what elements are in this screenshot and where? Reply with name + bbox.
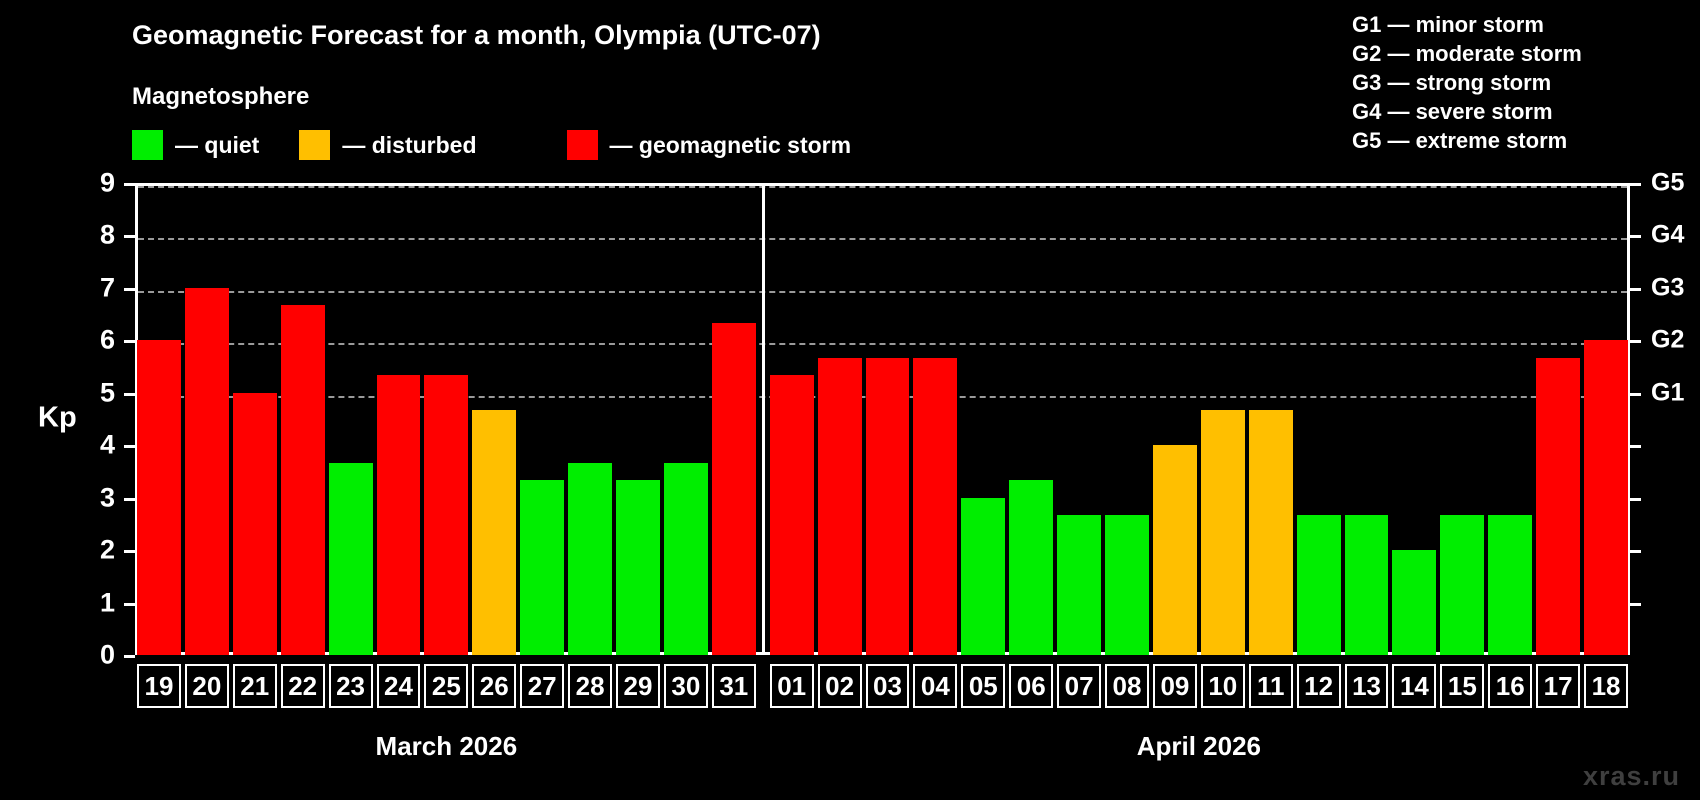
date-label-05[interactable]: 05: [961, 664, 1005, 708]
date-label-27[interactable]: 27: [520, 664, 564, 708]
date-label-28[interactable]: 28: [568, 664, 612, 708]
date-label-10[interactable]: 10: [1201, 664, 1245, 708]
date-label-20[interactable]: 20: [185, 664, 229, 708]
date-label-07[interactable]: 07: [1057, 664, 1101, 708]
date-label-29[interactable]: 29: [616, 664, 660, 708]
date-label-04[interactable]: 04: [913, 664, 957, 708]
date-label-25[interactable]: 25: [424, 664, 468, 708]
date-label-15[interactable]: 15: [1440, 664, 1484, 708]
date-label-03[interactable]: 03: [866, 664, 910, 708]
date-label-13[interactable]: 13: [1345, 664, 1389, 708]
date-label-23[interactable]: 23: [329, 664, 373, 708]
date-label-06[interactable]: 06: [1009, 664, 1053, 708]
date-label-17[interactable]: 17: [1536, 664, 1580, 708]
date-label-08[interactable]: 08: [1105, 664, 1149, 708]
date-label-02[interactable]: 02: [818, 664, 862, 708]
date-label-09[interactable]: 09: [1153, 664, 1197, 708]
month-label-april: April 2026: [1137, 731, 1261, 762]
plot-area: 0123456789G1G2G3G4G5 Kp 1920212223242526…: [0, 0, 1700, 800]
date-label-16[interactable]: 16: [1488, 664, 1532, 708]
date-label-31[interactable]: 31: [712, 664, 756, 708]
date-label-12[interactable]: 12: [1297, 664, 1341, 708]
date-label-30[interactable]: 30: [664, 664, 708, 708]
date-labels-row: 1920212223242526272829303101020304050607…: [0, 0, 1700, 800]
date-label-01[interactable]: 01: [770, 664, 814, 708]
date-label-18[interactable]: 18: [1584, 664, 1628, 708]
date-label-19[interactable]: 19: [137, 664, 181, 708]
date-label-11[interactable]: 11: [1249, 664, 1293, 708]
date-label-14[interactable]: 14: [1392, 664, 1436, 708]
date-label-24[interactable]: 24: [377, 664, 421, 708]
date-label-26[interactable]: 26: [472, 664, 516, 708]
month-label-march: March 2026: [376, 731, 518, 762]
date-label-22[interactable]: 22: [281, 664, 325, 708]
watermark: xras.ru: [1583, 761, 1680, 792]
date-label-21[interactable]: 21: [233, 664, 277, 708]
